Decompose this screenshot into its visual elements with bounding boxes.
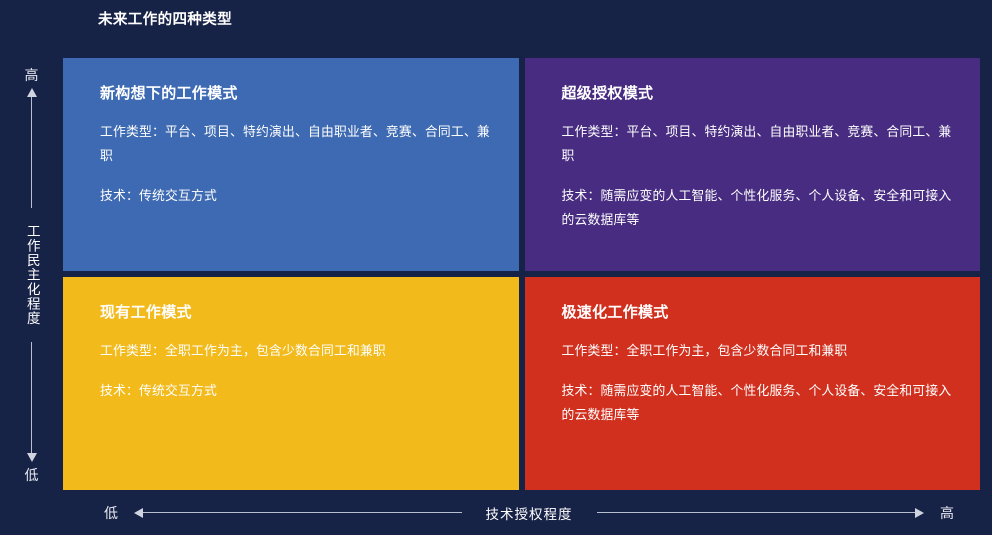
- quadrant-existing-work-mode[interactable]: 现有工作模式 工作类型：全职工作为主，包含少数合同工和兼职 技术：传统交互方式: [63, 277, 519, 490]
- quadrant-new-concept-work-mode[interactable]: 新构想下的工作模式 工作类型：平台、项目、特约演出、自由职业者、竞赛、合同工、兼…: [63, 58, 519, 271]
- quadrant-work-type: 工作类型：全职工作为主，包含少数合同工和兼职: [562, 339, 953, 363]
- quadrant-title: 极速化工作模式: [562, 303, 953, 323]
- quadrant-technology: 技术：随需应变的人工智能、个性化服务、个人设备、安全和可接入的云数据库等: [562, 184, 953, 232]
- arrow-left-icon: [132, 506, 472, 519]
- quadrant-technology: 技术：随需应变的人工智能、个性化服务、个人设备、安全和可接入的云数据库等: [562, 379, 953, 427]
- x-axis: 低 技术授权程度 高: [63, 490, 980, 535]
- quadrant-work-type: 工作类型：平台、项目、特约演出、自由职业者、竞赛、合同工、兼职: [100, 120, 491, 168]
- arrow-down-icon: [25, 332, 38, 466]
- quadrant-technology: 技术：传统交互方式: [100, 184, 491, 208]
- y-axis: 高 工作民主化程度 低: [0, 58, 63, 490]
- y-axis-high-label: 高: [25, 66, 39, 84]
- quadrant-work-type: 工作类型：平台、项目、特约演出、自由职业者、竞赛、合同工、兼职: [562, 120, 953, 168]
- x-axis-high-label: 高: [926, 504, 968, 522]
- quadrant-title: 新构想下的工作模式: [100, 84, 491, 104]
- quadrant-work-type: 工作类型：全职工作为主，包含少数合同工和兼职: [100, 339, 491, 363]
- arrow-right-icon: [587, 506, 927, 519]
- quadrant-title: 现有工作模式: [100, 303, 491, 323]
- y-axis-title: 工作民主化程度: [22, 218, 41, 332]
- x-axis-low-label: 低: [90, 504, 132, 522]
- quadrant-hyper-accelerated-work-mode[interactable]: 极速化工作模式 工作类型：全职工作为主，包含少数合同工和兼职 技术：随需应变的人…: [525, 277, 981, 490]
- quadrant-super-empowerment-mode[interactable]: 超级授权模式 工作类型：平台、项目、特约演出、自由职业者、竞赛、合同工、兼职 技…: [525, 58, 981, 271]
- x-axis-title: 技术授权程度: [472, 503, 587, 523]
- matrix-grid: 新构想下的工作模式 工作类型：平台、项目、特约演出、自由职业者、竞赛、合同工、兼…: [63, 58, 980, 490]
- page-title: 未来工作的四种类型: [98, 8, 232, 29]
- y-axis-low-label: 低: [25, 466, 39, 484]
- quadrant-technology: 技术：传统交互方式: [100, 379, 491, 403]
- arrow-up-icon: [25, 84, 38, 218]
- quadrant-matrix-chart: 未来工作的四种类型 高 工作民主化程度 低 新构想下的工作模式 工作类型：平台、…: [0, 0, 992, 535]
- quadrant-title: 超级授权模式: [562, 84, 953, 104]
